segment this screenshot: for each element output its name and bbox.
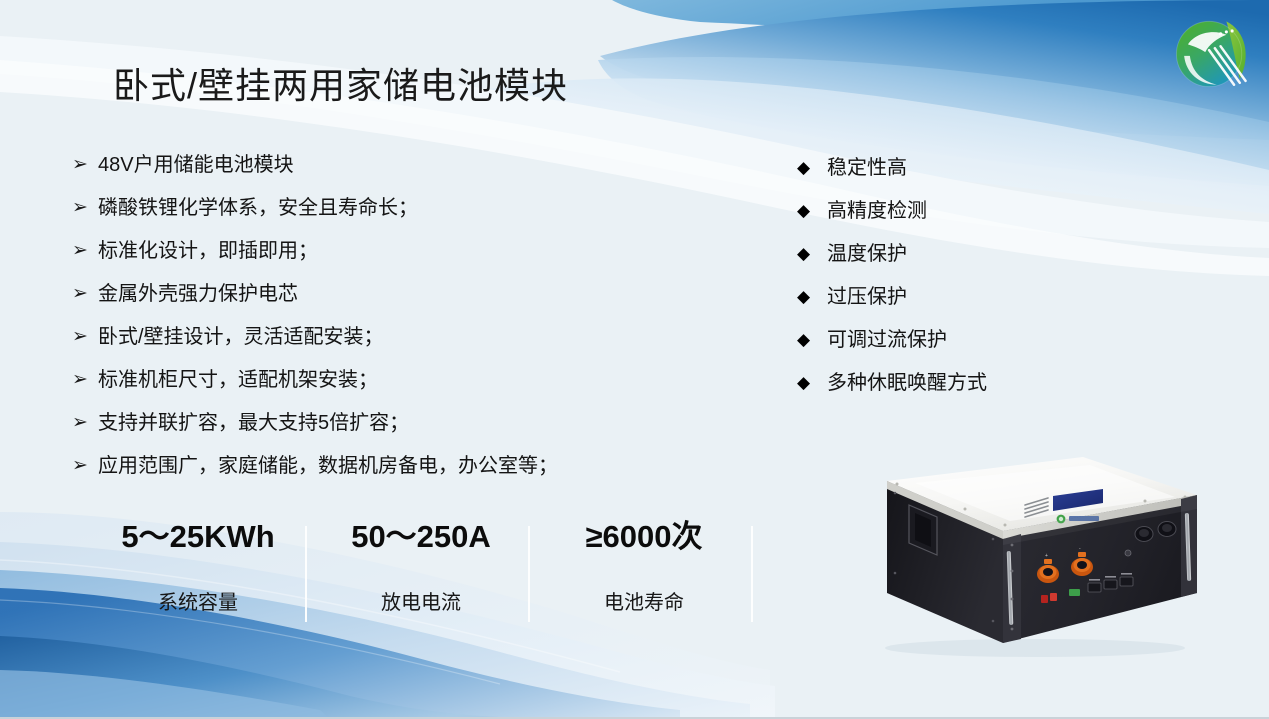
stat-label: 系统容量 xyxy=(86,588,310,618)
arrow-bullet-icon: ➢ xyxy=(72,195,98,221)
stat-value: 50～250A xyxy=(309,516,533,558)
stat-value: ≥6000次 xyxy=(532,516,756,558)
stat-discharge-current: 50～250A 放电电流 xyxy=(309,516,533,618)
list-item-label: 可调过流保护 xyxy=(827,327,947,353)
list-item-label: 支持并联扩容，最大支持5倍扩容； xyxy=(98,410,409,436)
list-item-label: 卧式/壁挂设计，灵活适配安装； xyxy=(98,324,384,350)
stat-label: 放电电流 xyxy=(309,588,533,618)
arrow-bullet-icon: ➢ xyxy=(72,324,98,350)
list-item-label: 温度保护 xyxy=(827,241,907,267)
arrow-bullet-icon: ➢ xyxy=(72,152,98,178)
list-item: ➢ 标准机柜尺寸，适配机架安装； xyxy=(72,367,712,410)
list-item-label: 标准机柜尺寸，适配机架安装； xyxy=(98,367,378,393)
list-item: ➢ 磷酸铁锂化学体系，安全且寿命长； xyxy=(72,195,712,238)
list-item: ◆ 温度保护 xyxy=(797,241,1097,284)
stat-cycle-life: ≥6000次 电池寿命 xyxy=(532,516,756,618)
company-logo xyxy=(1163,6,1259,102)
list-item: ➢ 应用范围广，家庭储能，数据机房备电，办公室等； xyxy=(72,453,712,496)
list-item-label: 磷酸铁锂化学体系，安全且寿命长； xyxy=(98,195,418,221)
svg-text:+: + xyxy=(1045,553,1048,559)
slide-canvas: 卧式/壁挂两用家储电池模块 ➢ 48V户用储能电池模块 ➢ 磷酸铁锂化学体系，安… xyxy=(0,0,1269,719)
list-item: ➢ 卧式/壁挂设计，灵活适配安装； xyxy=(72,324,712,367)
diamond-bullet-icon: ◆ xyxy=(797,284,827,310)
list-item-label: 应用范围广，家庭储能，数据机房备电，办公室等； xyxy=(98,453,558,479)
stat-label: 电池寿命 xyxy=(532,588,756,618)
list-item: ◆ 高精度检测 xyxy=(797,198,1097,241)
arrow-bullet-icon: ➢ xyxy=(72,453,98,479)
slide-title: 卧式/壁挂两用家储电池模块 xyxy=(113,57,568,109)
list-item: ➢ 48V户用储能电池模块 xyxy=(72,152,712,195)
list-item: ◆ 稳定性高 xyxy=(797,155,1097,198)
diamond-bullet-icon: ◆ xyxy=(797,241,827,267)
list-item-label: 高精度检测 xyxy=(827,198,927,224)
diamond-bullet-icon: ◆ xyxy=(797,370,827,396)
list-item-label: 多种休眠唤醒方式 xyxy=(827,370,987,396)
list-item: ◆ 可调过流保护 xyxy=(797,327,1097,370)
diamond-bullet-icon: ◆ xyxy=(797,327,827,353)
list-item-label: 过压保护 xyxy=(827,284,907,310)
list-item-label: 金属外壳强力保护电芯 xyxy=(98,281,298,307)
stat-capacity: 5～25KWh 系统容量 xyxy=(86,516,310,618)
diamond-bullet-icon: ◆ xyxy=(797,155,827,181)
list-item: ➢ 金属外壳强力保护电芯 xyxy=(72,281,712,324)
stat-value: 5～25KWh xyxy=(86,516,310,558)
list-item: ◆ 多种休眠唤醒方式 xyxy=(797,370,1097,413)
arrow-bullet-icon: ➢ xyxy=(72,238,98,264)
spec-stats-strip: 5～25KWh 系统容量 50～250A 放电电流 ≥6000次 电池寿命 xyxy=(86,516,758,624)
feature-list-right: ◆ 稳定性高 ◆ 高精度检测 ◆ 温度保护 ◆ 过压保护 ◆ 可调过流保护 ◆ … xyxy=(797,155,1097,413)
list-item: ◆ 过压保护 xyxy=(797,284,1097,327)
diamond-bullet-icon: ◆ xyxy=(797,198,827,224)
list-item: ➢ 支持并联扩容，最大支持5倍扩容； xyxy=(72,410,712,453)
battery-module-photo: + - xyxy=(845,443,1229,663)
arrow-bullet-icon: ➢ xyxy=(72,410,98,436)
list-item-label: 稳定性高 xyxy=(827,155,907,181)
arrow-bullet-icon: ➢ xyxy=(72,367,98,393)
arrow-bullet-icon: ➢ xyxy=(72,281,98,307)
list-item: ➢ 标准化设计，即插即用； xyxy=(72,238,712,281)
list-item-label: 标准化设计，即插即用； xyxy=(98,238,318,264)
feature-list-left: ➢ 48V户用储能电池模块 ➢ 磷酸铁锂化学体系，安全且寿命长； ➢ 标准化设计… xyxy=(72,152,712,496)
list-item-label: 48V户用储能电池模块 xyxy=(98,152,294,178)
